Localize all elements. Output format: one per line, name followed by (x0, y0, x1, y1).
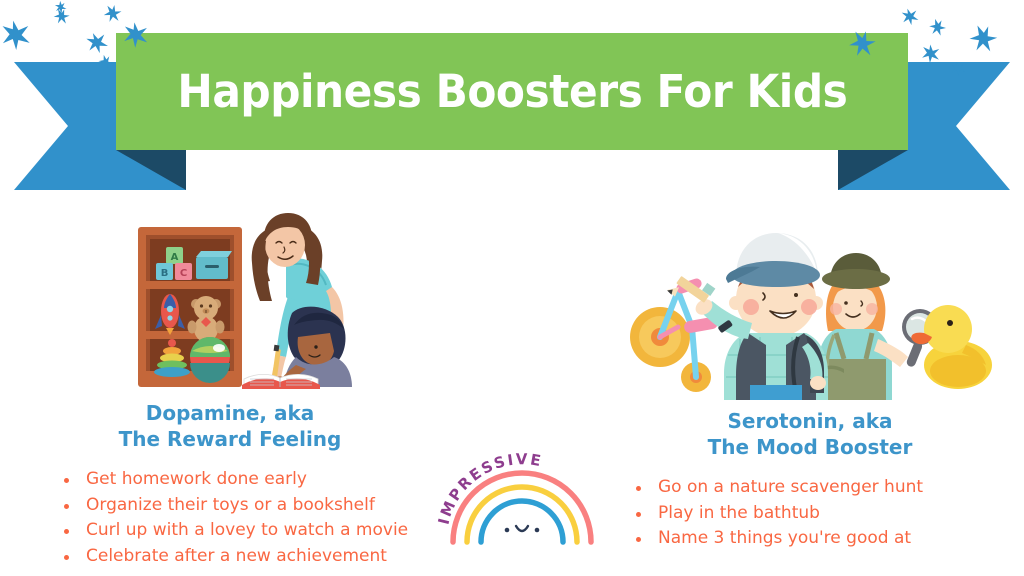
mother-helping-child-with-homework-illustration: A B C (80, 205, 380, 390)
two-kids-exploring-illustration (620, 215, 1000, 400)
column-serotonin: Serotonin, aka The Mood Booster Go on a … (600, 215, 1020, 552)
child-writing-in-book-icon (242, 307, 352, 390)
list-item: Name 3 things you're good at (634, 526, 1020, 552)
tips-list-serotonin: Go on a nature scavenger hunt Play in th… (600, 475, 1020, 552)
beach-ball-icon (190, 337, 230, 383)
list-item: Organize their toys or a bookshelf (62, 493, 450, 519)
list-item: Curl up with a lovey to watch a movie (62, 518, 450, 544)
smiling-rainbow-icon: IMPRESSIVE (437, 446, 607, 556)
column-dopamine: A B C (10, 205, 450, 570)
infographic-canvas: Happiness Boosters For Kids (0, 0, 1024, 576)
tips-list-dopamine: Get homework done early Organize their t… (10, 467, 450, 570)
svg-text:B: B (161, 268, 169, 279)
list-item: Get homework done early (62, 467, 450, 493)
column-heading-dopamine: Dopamine, aka The Reward Feeling (10, 400, 450, 453)
toy-bookshelf-icon: A B C (138, 227, 242, 387)
page-title: Happiness Boosters For Kids (177, 69, 847, 114)
list-item: Play in the bathtub (634, 501, 1020, 527)
list-item: Go on a nature scavenger hunt (634, 475, 1020, 501)
title-banner: Happiness Boosters For Kids (0, 0, 1024, 200)
svg-text:C: C (180, 268, 187, 279)
banner-plate: Happiness Boosters For Kids (116, 33, 908, 150)
storage-box-icon (196, 251, 232, 279)
column-heading-serotonin: Serotonin, aka The Mood Booster (600, 408, 1020, 461)
girl-with-bucket-hat-magnifying-glass-icon (818, 253, 938, 400)
list-item: Celebrate after a new achievement (62, 544, 450, 570)
impressive-rainbow-badge: IMPRESSIVE (437, 446, 607, 556)
svg-text:A: A (171, 252, 179, 263)
